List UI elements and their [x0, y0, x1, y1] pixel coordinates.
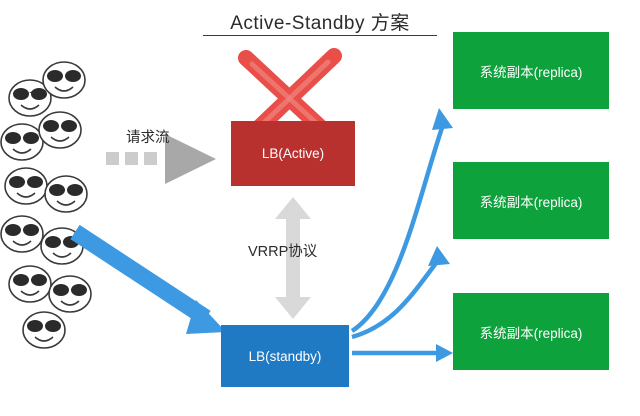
node-lb-active[interactable]: LB(Active) — [231, 121, 355, 186]
blue-arrow-icon-users-to-standby — [75, 232, 226, 334]
blue-arrow-icon-standby-to-replica-3 — [352, 344, 453, 362]
node-replica-2[interactable]: 系统副本(replica) — [453, 162, 609, 239]
request-flow-label: 请求流 — [126, 126, 170, 147]
node-replica-3[interactable]: 系统副本(replica) — [453, 293, 609, 370]
diagram-canvas: Active-Standby 方案 — [0, 0, 640, 416]
blue-arrow-icon-standby-to-replica-1 — [352, 108, 453, 331]
node-replica-1[interactable]: 系统副本(replica) — [453, 32, 609, 109]
node-lb-standby[interactable]: LB(standby) — [221, 325, 349, 387]
vrrp-label: VRRP协议 — [248, 240, 317, 261]
